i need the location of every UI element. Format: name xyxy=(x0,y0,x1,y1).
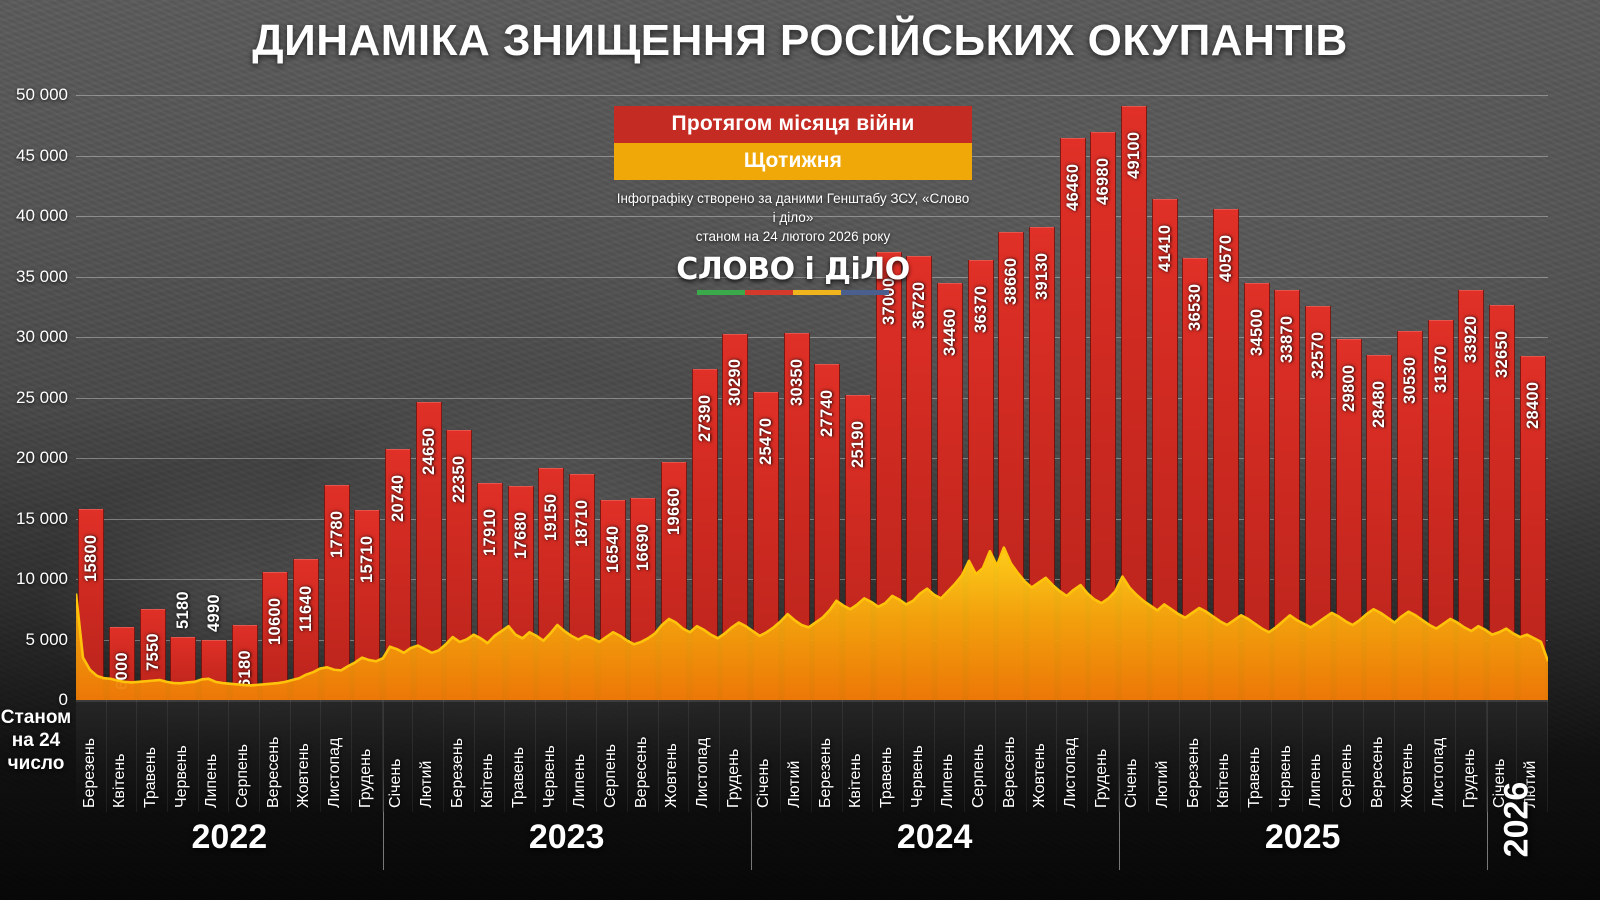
month-label: Травень xyxy=(510,747,528,808)
bar-column[interactable]: 38660 xyxy=(996,95,1027,700)
y-axis-tick-label: 45 000 xyxy=(0,146,68,166)
month-label-cell: Квітень xyxy=(1211,700,1242,812)
legend-item-weekly: Щотижня xyxy=(614,143,972,180)
bar-column[interactable]: 19150 xyxy=(536,95,567,700)
month-label-cell: Жовтень xyxy=(291,700,322,812)
bar-value-label: 40570 xyxy=(1217,235,1236,282)
y-axis-tick-label: 50 000 xyxy=(0,85,68,105)
month-label: Червень xyxy=(173,745,191,808)
bar-value-label: 36530 xyxy=(1186,284,1205,331)
month-label: Січень xyxy=(1123,758,1141,808)
bar[interactable] xyxy=(1090,132,1116,700)
bar-value-label: 30350 xyxy=(788,358,807,405)
bar-column[interactable]: 15800 xyxy=(76,95,107,700)
year-label: 2022 xyxy=(169,818,289,857)
month-label: Серпень xyxy=(234,744,252,808)
bar-value-label: 10600 xyxy=(266,597,285,644)
bar-value-label: 6180 xyxy=(236,650,255,688)
month-label-cell: Вересень xyxy=(996,700,1027,812)
month-label: Лютий xyxy=(418,761,436,808)
bar[interactable] xyxy=(201,640,227,700)
bar[interactable] xyxy=(1213,209,1239,700)
logo-stripe xyxy=(697,290,889,295)
bar-value-label: 4990 xyxy=(205,594,224,632)
bar-column[interactable]: 10600 xyxy=(260,95,291,700)
bar-value-label: 19150 xyxy=(542,494,561,541)
month-label-cell: Грудень xyxy=(720,700,751,812)
month-label: Липень xyxy=(939,754,957,808)
month-label: Серпень xyxy=(602,744,620,808)
infographic-canvas: ДИНАМІКА ЗНИЩЕННЯ РОСІЙСЬКИХ ОКУПАНТІВ 1… xyxy=(0,0,1600,900)
logo-stripe-segment xyxy=(745,290,793,295)
legend-item-monthly: Протягом місяця війни xyxy=(614,106,972,143)
month-label-cell: Травень xyxy=(505,700,536,812)
bar-column[interactable]: 7550 xyxy=(137,95,168,700)
bar-value-label: 16690 xyxy=(634,524,653,571)
month-label: Грудень xyxy=(725,749,743,808)
month-label-cell: Січень xyxy=(383,700,414,812)
page-title: ДИНАМІКА ЗНИЩЕННЯ РОСІЙСЬКИХ ОКУПАНТІВ xyxy=(0,16,1600,66)
month-label-cell: Червень xyxy=(904,700,935,812)
bar-column[interactable]: 17680 xyxy=(505,95,536,700)
month-label-cell: Грудень xyxy=(352,700,383,812)
month-label: Березень xyxy=(449,738,467,808)
bar-value-label: 20740 xyxy=(389,475,408,522)
bar-value-label: 27390 xyxy=(696,394,715,441)
month-label: Липень xyxy=(1307,754,1325,808)
month-label: Квітень xyxy=(111,753,129,808)
month-label-cell: Листопад xyxy=(689,700,720,812)
bar-value-label: 27740 xyxy=(818,390,837,437)
bar-column[interactable]: 40570 xyxy=(1211,95,1242,700)
bar-value-label: 36370 xyxy=(972,286,991,333)
month-label: Квітень xyxy=(1215,753,1233,808)
as-of-line: на 24 xyxy=(0,729,72,752)
y-axis-tick-label: 5 000 xyxy=(0,630,68,650)
month-label-cell: Березень xyxy=(76,700,107,812)
month-label-cell: Лютий xyxy=(413,700,444,812)
y-axis-tick-label: 30 000 xyxy=(0,327,68,347)
month-label: Жовтень xyxy=(295,743,313,808)
bar-value-label: 28400 xyxy=(1524,382,1543,429)
bar-value-label: 28480 xyxy=(1370,381,1389,428)
month-label: Жовтень xyxy=(1031,743,1049,808)
bar-column[interactable]: 46460 xyxy=(1057,95,1088,700)
month-labels-axis: БерезеньКвітеньТравеньЧервеньЛипеньСерпе… xyxy=(76,700,1548,812)
brand-logo: СЛОВО і ДіЛО xyxy=(614,252,972,295)
month-label: Квітень xyxy=(847,753,865,808)
month-label: Грудень xyxy=(357,749,375,808)
bar-value-label: 6000 xyxy=(113,652,132,690)
year-label: 2023 xyxy=(507,818,627,857)
bar-column[interactable]: 17780 xyxy=(321,95,352,700)
bar-column[interactable]: 49100 xyxy=(1119,95,1150,700)
bar-value-label: 17910 xyxy=(481,509,500,556)
month-label: Вересень xyxy=(1369,737,1387,808)
bar-column[interactable]: 33920 xyxy=(1456,95,1487,700)
month-label: Квітень xyxy=(479,753,497,808)
year-label: 2025 xyxy=(1243,818,1363,857)
bar-column[interactable]: 30530 xyxy=(1395,95,1426,700)
month-label: Серпень xyxy=(970,744,988,808)
month-label-cell: Квітень xyxy=(843,700,874,812)
bar-value-label: 15800 xyxy=(82,534,101,581)
credit-line-1: Інфографіку створено за даними Генштабу … xyxy=(614,189,972,227)
logo-stripe-segment xyxy=(841,290,889,295)
y-axis-tick-label: 10 000 xyxy=(0,569,68,589)
month-label-cell: Лютий xyxy=(1149,700,1180,812)
bar-column[interactable]: 18710 xyxy=(567,95,598,700)
month-label: Травень xyxy=(878,747,896,808)
month-label: Листопад xyxy=(694,738,712,808)
bar-value-label: 25470 xyxy=(757,417,776,464)
bar[interactable] xyxy=(1152,199,1178,700)
month-label: Лютий xyxy=(786,761,804,808)
bar-column[interactable]: 41410 xyxy=(1149,95,1180,700)
month-label-cell: Листопад xyxy=(1057,700,1088,812)
y-axis-tick-label: 25 000 xyxy=(0,388,68,408)
bar-value-label: 46980 xyxy=(1094,157,1113,204)
credit-note: Інфографіку створено за даними Генштабу … xyxy=(614,189,972,246)
as-of-line: число xyxy=(0,752,72,775)
bar-value-label: 32650 xyxy=(1493,331,1512,378)
bar-value-label: 29800 xyxy=(1340,365,1359,412)
month-label-cell: Червень xyxy=(168,700,199,812)
logo-stripe-segment xyxy=(793,290,841,295)
logo-stripe-segment xyxy=(697,290,745,295)
bar-column[interactable]: 29800 xyxy=(1333,95,1364,700)
bar-value-label: 41410 xyxy=(1156,225,1175,272)
month-label-cell: Березень xyxy=(1180,700,1211,812)
bar-value-label: 5180 xyxy=(174,591,193,629)
month-label: Жовтень xyxy=(663,743,681,808)
month-label: Грудень xyxy=(1461,749,1479,808)
bar-column[interactable]: 28480 xyxy=(1364,95,1395,700)
month-label-cell: Липень xyxy=(199,700,230,812)
month-label: Липень xyxy=(203,754,221,808)
month-label: Вересень xyxy=(265,737,283,808)
month-label-cell: Квітень xyxy=(475,700,506,812)
month-label: Вересень xyxy=(633,737,651,808)
month-label: Травень xyxy=(142,747,160,808)
month-label: Червень xyxy=(1277,745,1295,808)
month-label-cell: Травень xyxy=(1241,700,1272,812)
bar-value-label: 33870 xyxy=(1278,316,1297,363)
bar-value-label: 32570 xyxy=(1309,332,1328,379)
month-label-cell: Червень xyxy=(1272,700,1303,812)
month-label: Травень xyxy=(1246,747,1264,808)
month-label-cell: Липень xyxy=(567,700,598,812)
bar-value-label: 11640 xyxy=(297,586,316,632)
bar[interactable] xyxy=(1060,138,1086,700)
bar-value-label: 16540 xyxy=(604,525,623,572)
y-axis-tick-label: 15 000 xyxy=(0,509,68,529)
bar-column[interactable]: 32650 xyxy=(1487,95,1518,700)
month-label-cell: Грудень xyxy=(1088,700,1119,812)
bar-column[interactable]: 20740 xyxy=(383,95,414,700)
month-label-cell: Серпень xyxy=(597,700,628,812)
bar-value-label: 33920 xyxy=(1462,315,1481,362)
month-label-cell: Травень xyxy=(137,700,168,812)
month-label: Листопад xyxy=(1062,738,1080,808)
bar-column[interactable]: 15710 xyxy=(352,95,383,700)
bar-column[interactable]: 17910 xyxy=(475,95,506,700)
month-label-cell: Січень xyxy=(751,700,782,812)
month-label-cell: Серпень xyxy=(1333,700,1364,812)
bar-column[interactable]: 24650 xyxy=(413,95,444,700)
month-label-cell: Лютий xyxy=(781,700,812,812)
month-label-cell: Листопад xyxy=(1425,700,1456,812)
bar-value-label: 22350 xyxy=(450,455,469,502)
bar-column[interactable]: 4990 xyxy=(199,95,230,700)
month-label-cell: Квітень xyxy=(107,700,138,812)
credit-line-2: станом на 24 лютого 2026 року xyxy=(614,227,972,246)
legend: Протягом місяця війни Щотижня Інфографік… xyxy=(614,106,972,295)
month-label-cell: Березень xyxy=(444,700,475,812)
as-of-line: Станом xyxy=(0,706,72,729)
bar-column[interactable]: 36530 xyxy=(1180,95,1211,700)
year-label: 2026 xyxy=(1498,780,1537,860)
bar-column[interactable]: 11640 xyxy=(291,95,322,700)
month-label-cell: Березень xyxy=(812,700,843,812)
bar-column[interactable]: 6000 xyxy=(107,95,138,700)
month-label: Березень xyxy=(81,738,99,808)
month-label-cell: Вересень xyxy=(260,700,291,812)
y-axis-tick-label: 35 000 xyxy=(0,267,68,287)
bar-column[interactable]: 5180 xyxy=(168,95,199,700)
month-label-cell: Серпень xyxy=(229,700,260,812)
bar-column[interactable]: 6180 xyxy=(229,95,260,700)
bar-column[interactable]: 33870 xyxy=(1272,95,1303,700)
month-label: Листопад xyxy=(326,738,344,808)
month-label-cell: Липень xyxy=(935,700,966,812)
bar-value-label: 46460 xyxy=(1064,163,1083,210)
month-label-cell: Серпень xyxy=(965,700,996,812)
month-label: Червень xyxy=(909,745,927,808)
bar-column[interactable]: 31370 xyxy=(1425,95,1456,700)
month-label: Жовтень xyxy=(1399,743,1417,808)
bar-column[interactable]: 39130 xyxy=(1027,95,1058,700)
bar-column[interactable]: 32570 xyxy=(1303,95,1334,700)
bar[interactable] xyxy=(170,637,196,700)
bar-value-label: 17780 xyxy=(328,510,347,557)
month-label-cell: Жовтень xyxy=(1027,700,1058,812)
month-label: Грудень xyxy=(1093,749,1111,808)
month-label: Березень xyxy=(1185,738,1203,808)
month-label-cell: Жовтень xyxy=(1395,700,1426,812)
bar-value-label: 38660 xyxy=(1002,258,1021,305)
logo-text: СЛОВО і ДіЛО xyxy=(614,252,972,287)
month-label: Січень xyxy=(387,758,405,808)
month-label-cell: Січень xyxy=(1119,700,1150,812)
month-label: Липень xyxy=(571,754,589,808)
bar-value-label: 17680 xyxy=(512,512,531,559)
bar-value-label: 25190 xyxy=(849,421,868,468)
month-label-cell: Вересень xyxy=(1364,700,1395,812)
month-label-cell: Листопад xyxy=(321,700,352,812)
bar-value-label: 7550 xyxy=(144,633,163,671)
bar[interactable] xyxy=(1121,106,1147,700)
as-of-note: Станомна 24число xyxy=(0,706,72,776)
bar-value-label: 34460 xyxy=(941,309,960,356)
bar-column[interactable]: 34500 xyxy=(1241,95,1272,700)
month-label-cell: Грудень xyxy=(1456,700,1487,812)
month-label: Березень xyxy=(817,738,835,808)
month-label-cell: Травень xyxy=(873,700,904,812)
month-label-cell: Червень xyxy=(536,700,567,812)
month-label-cell: Липень xyxy=(1303,700,1334,812)
bar-column[interactable]: 22350 xyxy=(444,95,475,700)
month-label: Січень xyxy=(755,758,773,808)
bar-value-label: 18710 xyxy=(573,499,592,546)
bar-value-label: 39130 xyxy=(1033,252,1052,299)
bar-value-label: 30530 xyxy=(1401,356,1420,403)
y-axis-tick-label: 40 000 xyxy=(0,206,68,226)
bar-column[interactable]: 46980 xyxy=(1088,95,1119,700)
year-label: 2024 xyxy=(875,818,995,857)
bar-value-label: 31370 xyxy=(1432,346,1451,393)
month-label-cell: Вересень xyxy=(628,700,659,812)
bar-value-label: 24650 xyxy=(420,427,439,474)
bar-value-label: 19660 xyxy=(665,488,684,535)
month-label: Вересень xyxy=(1001,737,1019,808)
y-axis-tick-label: 20 000 xyxy=(0,448,68,468)
month-label: Лютий xyxy=(1154,761,1172,808)
bar-column[interactable]: 28400 xyxy=(1517,95,1548,700)
bar-value-label: 49100 xyxy=(1125,131,1144,178)
bar-value-label: 15710 xyxy=(358,536,377,583)
month-label: Листопад xyxy=(1430,738,1448,808)
month-label-cell: Жовтень xyxy=(659,700,690,812)
bar-value-label: 34500 xyxy=(1248,308,1267,355)
month-label: Червень xyxy=(541,745,559,808)
month-label: Серпень xyxy=(1338,744,1356,808)
bar-value-label: 30290 xyxy=(726,359,745,406)
